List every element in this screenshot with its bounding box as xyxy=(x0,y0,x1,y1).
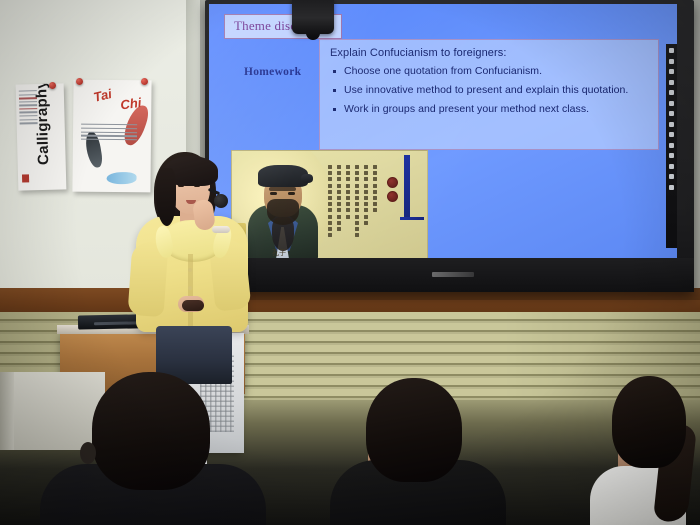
toolbar-button[interactable] xyxy=(669,69,674,74)
pushpin-icon xyxy=(49,82,56,89)
slide-lead-text: Explain Confucianism to foreigners: xyxy=(330,47,650,59)
portrait-blue-bar-foot xyxy=(400,217,424,220)
slide-bullet-3: Work in groups and present your method n… xyxy=(330,103,650,115)
slide-section-label: Homework xyxy=(244,66,301,78)
toolbar-button[interactable] xyxy=(669,111,674,116)
student-center xyxy=(330,378,510,525)
tai-chi-title-part1: Tai xyxy=(92,86,113,105)
teacher-hair-side xyxy=(156,168,176,226)
student-right xyxy=(596,376,700,525)
pushpin-icon xyxy=(141,78,148,85)
toolbar-button[interactable] xyxy=(669,153,674,158)
toolbar-button[interactable] xyxy=(669,48,674,53)
calligraphy-poster-title: Calligraphy xyxy=(33,83,52,168)
teacher-blouse-placket xyxy=(188,254,193,328)
confucius-brow xyxy=(269,187,296,191)
toolbar-button[interactable] xyxy=(669,174,674,179)
toolbar-button[interactable] xyxy=(669,164,674,169)
tai-chi-title-part2: Chi xyxy=(119,95,142,113)
text-column xyxy=(337,165,341,255)
toolbar-button[interactable] xyxy=(669,80,674,85)
display-screen[interactable]: Theme discussion Homework Explain Confuc… xyxy=(209,4,677,262)
text-column xyxy=(364,165,368,255)
calligraphy-poster-seal xyxy=(22,174,29,182)
confucius-picture: 孔子 xyxy=(231,150,428,262)
chinese-text-columns xyxy=(328,165,396,255)
toolbar-button[interactable] xyxy=(669,122,674,127)
tai-chi-poster-lines xyxy=(81,124,137,143)
teacher-figure xyxy=(120,150,260,365)
text-column xyxy=(346,165,350,255)
student-head xyxy=(612,376,686,468)
confucius-lower-beard xyxy=(272,217,294,251)
camera-icon xyxy=(292,0,334,34)
red-seal-stamp-icon xyxy=(387,191,398,202)
text-column xyxy=(373,165,377,255)
slide-content-box: Explain Confucianism to foreigners: Choo… xyxy=(319,39,659,150)
toolbar-button[interactable] xyxy=(669,90,674,95)
student-head xyxy=(92,372,210,490)
confucius-hat xyxy=(258,165,308,187)
calligraphy-poster: Calligraphy xyxy=(16,83,67,190)
side-cabinet-edge xyxy=(0,372,14,450)
toolbar-button[interactable] xyxy=(669,101,674,106)
portrait-blue-bar xyxy=(404,155,410,217)
display-brand-logo xyxy=(432,272,474,277)
toolbar-button[interactable] xyxy=(669,185,674,190)
presentation-slide: Theme discussion Homework Explain Confuc… xyxy=(209,4,677,262)
presentation-clicker[interactable] xyxy=(182,300,204,311)
student-head xyxy=(366,378,462,482)
student-front-left xyxy=(36,372,266,525)
student-ear xyxy=(80,442,96,464)
text-column xyxy=(355,165,359,255)
slide-bullet-list: Choose one quotation from Confucianism. … xyxy=(330,65,650,115)
slide-bullet-1: Choose one quotation from Confucianism. xyxy=(330,65,650,77)
blouse-button xyxy=(188,268,192,272)
classroom-scene: Calligraphy Tai Chi Theme discussion Hom… xyxy=(0,0,700,525)
pushpin-icon xyxy=(76,78,83,85)
teacher-bracelet xyxy=(212,226,230,233)
toolbar-button[interactable] xyxy=(669,143,674,148)
slide-bullet-2: Use innovative method to present and exp… xyxy=(330,84,650,96)
portrait-caption: 孔子 xyxy=(272,248,286,258)
red-seal-stamp-icon xyxy=(387,177,398,188)
confucius-eyes xyxy=(270,192,295,195)
blouse-button xyxy=(188,286,192,290)
display-side-toolbar[interactable] xyxy=(666,44,677,248)
toolbar-button[interactable] xyxy=(669,59,674,64)
toolbar-button[interactable] xyxy=(669,132,674,137)
text-column xyxy=(328,165,332,255)
microphone-icon xyxy=(214,194,228,208)
